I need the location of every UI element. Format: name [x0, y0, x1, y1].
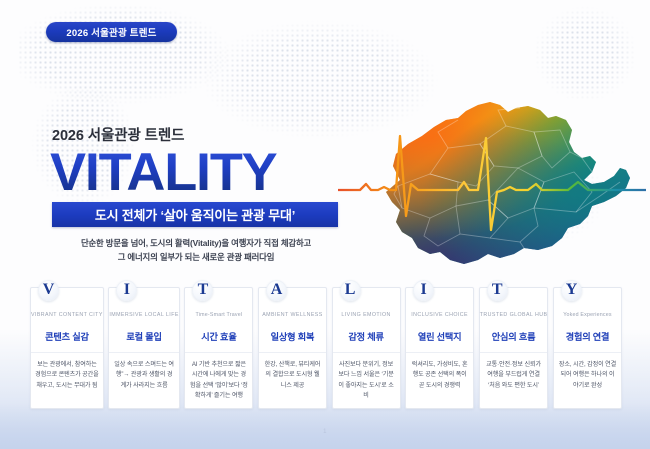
- card-korean-title: 열린 선택지: [418, 329, 462, 343]
- card-korean-title: 일상형 회복: [271, 329, 315, 343]
- hero-title: VITALITY: [50, 147, 348, 199]
- card-body-text: 일상 속으로 스며드는 여행”→ 관광과 생활의 경계가 사라지는 흐름: [109, 360, 178, 391]
- seoul-map-ecg-artwork: [338, 96, 646, 281]
- card-english-label: IMMERSIVE LOCAL LIFE: [109, 312, 178, 318]
- trend-card[interactable]: T TRUSTED GLOBAL HUB 안심의 흐름 교통·안전·정보 신뢰가…: [479, 287, 549, 409]
- hero-bar-text: 도시 전체가 ‘살아 움직이는 관광 무대’: [95, 205, 295, 224]
- trend-card[interactable]: L LIVING EMOTION 감정 체류 사진보다 분위기, 정보보다 느낌…: [332, 287, 401, 409]
- card-letter: I: [421, 282, 427, 298]
- card-english-label: Time-Smart Travel: [196, 312, 243, 318]
- hero-kicker: 2026 서울관광 트렌드: [52, 124, 342, 145]
- card-body-text: 사진보다 분위기, 정보보다 느낌 서울은 ‘기분이 좋아지는 도시’로 소비: [333, 360, 400, 402]
- card-korean-title: 로컬 몰입: [126, 329, 161, 343]
- card-divider: [185, 352, 252, 353]
- card-korean-title: 감정 체류: [348, 329, 383, 343]
- card-body-text: 한강, 산책로, 뷰티케어의 결합으로 도시형 웰니스 제공: [259, 360, 326, 391]
- card-english-label: TRUSTED GLOBAL HUB: [480, 312, 548, 318]
- card-english-label: Yoked Experiences: [563, 312, 612, 318]
- card-letter: V: [43, 282, 55, 298]
- card-english-label: INCLUSIVE CHOICE: [411, 312, 468, 318]
- card-divider: [259, 352, 326, 353]
- card-divider: [333, 352, 400, 353]
- page-number: 1: [0, 429, 650, 435]
- trend-card[interactable]: I IMMERSIVE LOCAL LIFE 로컬 몰입 일상 속으로 스며드는…: [108, 287, 179, 409]
- card-divider: [109, 352, 178, 353]
- card-letter-badge: A: [266, 280, 287, 301]
- card-letter-badge: I: [413, 280, 434, 301]
- trend-card[interactable]: T Time-Smart Travel 시간 효율 AI 기반 추천으로 짧은 …: [184, 287, 253, 409]
- hero-description: 단순한 방문을 넘어, 도시의 활력(Vitality)을 여행자가 직접 체감…: [52, 237, 340, 264]
- card-divider: [31, 352, 103, 353]
- hero-description-line-1: 단순한 방문을 넘어, 도시의 활력(Vitality)을 여행자가 직접 체감…: [52, 237, 340, 251]
- trend-card[interactable]: I INCLUSIVE CHOICE 열린 선택지 럭셔리도, 가성비도, 혼행…: [405, 287, 474, 409]
- card-english-label: LIVING EMOTION: [341, 312, 390, 318]
- card-letter-badge: I: [116, 280, 137, 301]
- card-letter: A: [271, 282, 283, 298]
- hero-description-line-2: 그 에너지의 일부가 되는 새로운 관광 패러다임: [52, 251, 340, 265]
- card-letter-badge: T: [192, 280, 213, 301]
- card-letter: Y: [566, 282, 578, 298]
- card-letter-badge: V: [38, 280, 59, 301]
- card-letter: T: [198, 282, 209, 298]
- card-body-text: 보는 관광에서, 참여하는 경험으로 콘텐츠가 공간을 채우고, 도시는 무대가…: [31, 360, 103, 391]
- trend-card-strip: V VIBRANT CONTENT CITY 콘텐츠 실감 보는 관광에서, 참…: [30, 287, 622, 409]
- card-letter-badge: Y: [561, 280, 582, 301]
- top-badge-label: 2026 서울관광 트렌드: [66, 25, 156, 39]
- card-english-label: VIBRANT CONTENT CITY: [31, 312, 103, 318]
- top-badge: 2026 서울관광 트렌드: [46, 22, 177, 42]
- trend-card[interactable]: V VIBRANT CONTENT CITY 콘텐츠 실감 보는 관광에서, 참…: [30, 287, 104, 409]
- card-divider: [554, 352, 621, 353]
- card-korean-title: 안심의 흐름: [492, 329, 536, 343]
- card-letter-badge: T: [487, 280, 508, 301]
- card-korean-title: 시간 효율: [201, 329, 236, 343]
- hero-highlight-bar: 도시 전체가 ‘살아 움직이는 관광 무대’: [52, 202, 338, 227]
- bottom-gradient-wash-deep: [0, 403, 650, 449]
- card-body-text: AI 기반 추천으로 짧은 시간에 나에게 맞는 경험을 선택 ‘많이’보다 ‘…: [185, 360, 252, 402]
- card-english-label: AMBIENT WELLNESS: [262, 312, 323, 318]
- card-divider: [480, 352, 548, 353]
- card-korean-title: 콘텐츠 실감: [45, 329, 89, 343]
- card-body-text: 럭셔리도, 가성비도, 혼행도 공존 선택의 폭이 곧 도시의 경쟁력: [406, 360, 473, 391]
- trend-card[interactable]: A AMBIENT WELLNESS 일상형 회복 한강, 산책로, 뷰티케어의…: [258, 287, 327, 409]
- card-korean-title: 경험의 연결: [566, 329, 610, 343]
- hero-block: 2026 서울관광 트렌드 VITALITY 도시 전체가 ‘살아 움직이는 관…: [52, 124, 342, 264]
- card-body-text: 교통·안전·정보 신뢰가 여행을 부드럽게 연결 ‘처음 와도 편한 도시’: [480, 360, 548, 391]
- slide-canvas: 2026 서울관광 트렌드 2026 서울관광 트렌드 VITALITY 도시 …: [0, 0, 650, 449]
- card-letter-badge: L: [340, 280, 361, 301]
- trend-card[interactable]: Y Yoked Experiences 경험의 연결 장소, 시간, 감정이 연…: [553, 287, 622, 409]
- card-letter: L: [345, 282, 356, 298]
- card-divider: [406, 352, 473, 353]
- card-letter: I: [124, 282, 130, 298]
- card-letter: T: [492, 282, 503, 298]
- card-body-text: 장소, 시간, 감정이 연결되어 여행은 하나의 이야기로 완성: [554, 360, 621, 391]
